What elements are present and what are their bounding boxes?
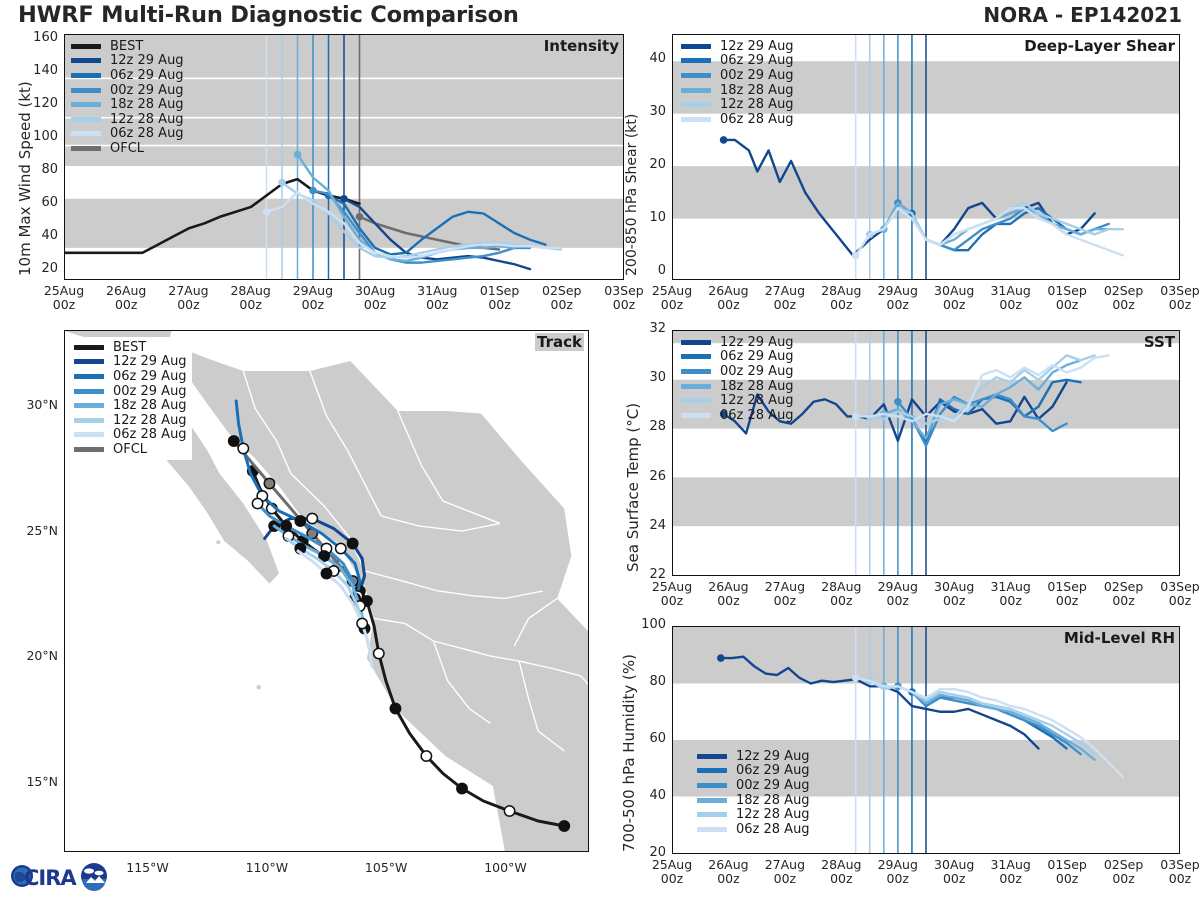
legend-label: 12z 29 Aug bbox=[720, 39, 794, 54]
x-tick-hour: 00z bbox=[774, 871, 796, 886]
series-init-marker bbox=[720, 136, 728, 144]
legend-item-06z-28-aug: 06z 28 Aug bbox=[681, 408, 794, 423]
x-tick-hour: 00z bbox=[1112, 593, 1134, 608]
legend-swatch-icon bbox=[681, 73, 711, 78]
x-tick-date: 01Sep bbox=[1047, 283, 1086, 298]
legend-item-06z-29-aug: 06z 29 Aug bbox=[681, 54, 794, 69]
legend-label: 06z 29 Aug bbox=[720, 349, 794, 364]
x-tick-date: 02Sep bbox=[1104, 283, 1143, 298]
island bbox=[257, 685, 261, 689]
sst-legend: 12z 29 Aug06z 29 Aug00z 29 Aug18z 28 Aug… bbox=[681, 335, 794, 423]
legend-label: 12z 29 Aug bbox=[113, 354, 187, 369]
x-tick-date: 30Aug bbox=[934, 579, 974, 594]
cira-logo: CIRA bbox=[6, 856, 110, 896]
x-tick-date: 26Aug bbox=[708, 857, 748, 872]
legend-item-12z-29-aug: 12z 29 Aug bbox=[74, 355, 187, 370]
track-position-marker bbox=[347, 538, 357, 548]
intensity-legend: BEST12z 29 Aug06z 29 Aug00z 29 Aug18z 28… bbox=[71, 39, 184, 156]
legend-label: 12z 28 Aug bbox=[736, 807, 810, 822]
x-tick-date: 28Aug bbox=[821, 283, 861, 298]
legend-swatch-icon bbox=[71, 117, 101, 122]
x-tick-hour: 00z bbox=[177, 297, 199, 312]
legend-item-12z-29-aug: 12z 29 Aug bbox=[697, 749, 810, 764]
legend-swatch-icon bbox=[681, 117, 711, 122]
map-lat-tick: 15°N bbox=[8, 774, 58, 789]
series-init-marker bbox=[852, 413, 860, 421]
map-lat-tick: 30°N bbox=[8, 397, 58, 412]
track-legend: BEST12z 29 Aug06z 29 Aug00z 29 Aug18z 28… bbox=[71, 337, 192, 460]
y-tick-label: 30 bbox=[620, 370, 666, 385]
x-tick-date: 27Aug bbox=[765, 283, 805, 298]
y-tick-label: 80 bbox=[620, 674, 666, 689]
legend-swatch-icon bbox=[681, 384, 711, 389]
legend-swatch-icon bbox=[74, 432, 104, 437]
x-tick-date: 29Aug bbox=[878, 857, 918, 872]
legend-item-00z-29-aug: 00z 29 Aug bbox=[71, 83, 184, 98]
legend-swatch-icon bbox=[681, 340, 711, 345]
x-tick-date: 30Aug bbox=[934, 857, 974, 872]
legend-label: 18z 28 Aug bbox=[720, 83, 794, 98]
storm-id-title: NORA - EP142021 bbox=[983, 3, 1182, 27]
x-tick-hour: 00z bbox=[774, 297, 796, 312]
x-tick-date: 31Aug bbox=[990, 579, 1030, 594]
x-tick-hour: 00z bbox=[115, 297, 137, 312]
track-position-marker bbox=[307, 513, 317, 523]
track-position-marker bbox=[357, 618, 367, 628]
legend-swatch-icon bbox=[74, 447, 104, 452]
x-tick-date: 03Sep bbox=[1160, 283, 1199, 298]
y-tick-label: 10 bbox=[620, 210, 666, 225]
legend-label: 06z 29 Aug bbox=[113, 369, 187, 384]
legend-swatch-icon bbox=[71, 146, 101, 151]
series-init-marker bbox=[894, 398, 902, 406]
legend-label: 12z 28 Aug bbox=[110, 112, 184, 127]
x-tick-hour: 00z bbox=[943, 871, 965, 886]
legend-swatch-icon bbox=[74, 374, 104, 379]
track-position-marker bbox=[252, 498, 262, 508]
map-lon-tick: 105°W bbox=[360, 860, 412, 875]
y-tick-label: 0 bbox=[620, 263, 666, 278]
legend-label: 06z 29 Aug bbox=[110, 68, 184, 83]
y-tick-label: 40 bbox=[620, 51, 666, 66]
legend-item-00z-29-aug: 00z 29 Aug bbox=[681, 364, 794, 379]
x-tick-hour: 00z bbox=[1169, 871, 1191, 886]
map-lon-tick: 100°W bbox=[479, 860, 531, 875]
y-tick-label: 32 bbox=[620, 321, 666, 336]
y-tick-label: 28 bbox=[620, 419, 666, 434]
x-tick-hour: 00z bbox=[1169, 297, 1191, 312]
x-tick-date: 31Aug bbox=[990, 857, 1030, 872]
x-tick-label: 03Sep00z bbox=[1143, 284, 1200, 312]
map-lon-tick: 115°W bbox=[122, 860, 174, 875]
legend-swatch-icon bbox=[681, 58, 711, 63]
x-tick-date: 30Aug bbox=[355, 283, 395, 298]
legend-label: 12z 29 Aug bbox=[110, 53, 184, 68]
x-tick-date: 27Aug bbox=[765, 857, 805, 872]
x-tick-date: 29Aug bbox=[878, 283, 918, 298]
x-tick-hour: 00z bbox=[717, 593, 739, 608]
legend-item-18z-28-aug: 18z 28 Aug bbox=[74, 398, 187, 413]
legend-swatch-icon bbox=[71, 73, 101, 78]
intensity-panel-title: Intensity bbox=[544, 37, 619, 55]
x-tick-hour: 00z bbox=[1056, 871, 1078, 886]
x-tick-hour: 00z bbox=[943, 297, 965, 312]
series-init-marker bbox=[852, 674, 860, 682]
x-tick-date: 28Aug bbox=[821, 579, 861, 594]
series-init-marker bbox=[356, 213, 364, 221]
legend-item-18z-28-aug: 18z 28 Aug bbox=[681, 379, 794, 394]
legend-item-12z-28-aug: 12z 28 Aug bbox=[697, 807, 810, 822]
series-init-marker bbox=[263, 208, 271, 216]
legend-swatch-icon bbox=[71, 102, 101, 107]
legend-item-06z-29-aug: 06z 29 Aug bbox=[697, 764, 810, 779]
legend-swatch-icon bbox=[74, 345, 104, 350]
x-tick-date: 28Aug bbox=[230, 283, 270, 298]
y-tick-label: 100 bbox=[12, 129, 58, 144]
map-lat-tick: 20°N bbox=[8, 648, 58, 663]
y-tick-label: 20 bbox=[12, 261, 58, 276]
legend-label: OFCL bbox=[113, 442, 147, 457]
legend-item-12z-28-aug: 12z 28 Aug bbox=[71, 112, 184, 127]
legend-swatch-icon bbox=[74, 403, 104, 408]
x-tick-hour: 00z bbox=[239, 297, 261, 312]
x-tick-date: 29Aug bbox=[878, 579, 918, 594]
track-position-marker bbox=[281, 521, 291, 531]
page-title: HWRF Multi-Run Diagnostic Comparison bbox=[18, 2, 519, 28]
x-tick-hour: 00z bbox=[830, 297, 852, 312]
x-tick-hour: 00z bbox=[999, 593, 1021, 608]
legend-label: 06z 29 Aug bbox=[736, 763, 810, 778]
x-tick-date: 02Sep bbox=[1104, 579, 1143, 594]
legend-label: 18z 28 Aug bbox=[113, 398, 187, 413]
series-init-marker bbox=[294, 151, 302, 159]
legend-item-ofcl: OFCL bbox=[71, 141, 184, 156]
legend-swatch-icon bbox=[71, 88, 101, 93]
x-tick-date: 26Aug bbox=[106, 283, 146, 298]
shear-panel: Deep-Layer Shear 12z 29 Aug06z 29 Aug00z… bbox=[672, 34, 1180, 280]
legend-label: 00z 29 Aug bbox=[110, 83, 184, 98]
x-tick-date: 02Sep bbox=[1104, 857, 1143, 872]
x-tick-hour: 00z bbox=[1112, 871, 1134, 886]
x-tick-hour: 00z bbox=[613, 297, 635, 312]
legend-swatch-icon bbox=[681, 44, 711, 49]
x-tick-date: 27Aug bbox=[168, 283, 208, 298]
series-init-marker bbox=[852, 252, 860, 260]
x-tick-hour: 00z bbox=[1056, 593, 1078, 608]
legend-swatch-icon bbox=[681, 354, 711, 359]
y-tick-label: 40 bbox=[620, 788, 666, 803]
legend-label: 06z 28 Aug bbox=[720, 408, 794, 423]
legend-label: 00z 29 Aug bbox=[736, 778, 810, 793]
island bbox=[216, 540, 220, 544]
x-tick-hour: 00z bbox=[302, 297, 324, 312]
x-tick-hour: 00z bbox=[364, 297, 386, 312]
y-tick-label: 100 bbox=[620, 617, 666, 632]
rh-legend: 12z 29 Aug06z 29 Aug00z 29 Aug18z 28 Aug… bbox=[697, 749, 810, 837]
legend-label: 18z 28 Aug bbox=[110, 97, 184, 112]
x-tick-hour: 00z bbox=[661, 297, 683, 312]
legend-item-00z-29-aug: 00z 29 Aug bbox=[74, 384, 187, 399]
y-tick-label: 60 bbox=[12, 195, 58, 210]
legend-label: 18z 28 Aug bbox=[736, 793, 810, 808]
legend-item-00z-29-aug: 00z 29 Aug bbox=[697, 778, 810, 793]
legend-swatch-icon bbox=[681, 369, 711, 374]
legend-swatch-icon bbox=[697, 798, 727, 803]
legend-swatch-icon bbox=[697, 783, 727, 788]
x-tick-date: 03Sep bbox=[1160, 857, 1199, 872]
rh-panel-title: Mid-Level RH bbox=[1064, 629, 1175, 647]
x-tick-hour: 00z bbox=[830, 593, 852, 608]
track-position-marker bbox=[457, 783, 467, 793]
x-tick-date: 29Aug bbox=[293, 283, 333, 298]
legend-item-06z-28-aug: 06z 28 Aug bbox=[71, 127, 184, 142]
legend-label: 12z 28 Aug bbox=[720, 393, 794, 408]
x-tick-hour: 00z bbox=[1056, 297, 1078, 312]
track-position-marker bbox=[295, 516, 305, 526]
legend-item-ofcl: OFCL bbox=[74, 442, 187, 457]
intensity-panel: Intensity BEST12z 29 Aug06z 29 Aug00z 29… bbox=[64, 34, 624, 280]
x-tick-date: 26Aug bbox=[708, 579, 748, 594]
legend-item-12z-29-aug: 12z 29 Aug bbox=[681, 335, 794, 350]
legend-swatch-icon bbox=[74, 418, 104, 423]
x-tick-hour: 00z bbox=[661, 871, 683, 886]
legend-swatch-icon bbox=[681, 413, 711, 418]
legend-label: BEST bbox=[113, 340, 146, 355]
x-tick-hour: 00z bbox=[661, 593, 683, 608]
legend-item-best: BEST bbox=[71, 39, 184, 54]
legend-item-06z-29-aug: 06z 29 Aug bbox=[681, 350, 794, 365]
legend-swatch-icon bbox=[681, 88, 711, 93]
legend-item-18z-28-aug: 18z 28 Aug bbox=[697, 793, 810, 808]
legend-item-12z-28-aug: 12z 28 Aug bbox=[681, 97, 794, 112]
x-tick-date: 02Sep bbox=[542, 283, 581, 298]
legend-label: 00z 29 Aug bbox=[113, 384, 187, 399]
legend-swatch-icon bbox=[697, 754, 727, 759]
track-position-marker bbox=[336, 543, 346, 553]
legend-label: 06z 28 Aug bbox=[720, 112, 794, 127]
track-position-marker bbox=[321, 568, 331, 578]
x-tick-hour: 00z bbox=[717, 871, 739, 886]
track-position-marker bbox=[374, 648, 384, 658]
legend-item-18z-28-aug: 18z 28 Aug bbox=[681, 83, 794, 98]
legend-label: 06z 28 Aug bbox=[113, 427, 187, 442]
shear-legend: 12z 29 Aug06z 29 Aug00z 29 Aug18z 28 Aug… bbox=[681, 39, 794, 127]
legend-label: BEST bbox=[110, 39, 143, 54]
legend-label: 00z 29 Aug bbox=[720, 68, 794, 83]
x-tick-hour: 00z bbox=[1169, 593, 1191, 608]
x-tick-label: 03Sep00z bbox=[1143, 580, 1200, 608]
x-tick-hour: 00z bbox=[887, 871, 909, 886]
track-position-marker bbox=[229, 436, 239, 446]
x-tick-date: 01Sep bbox=[480, 283, 519, 298]
shear-panel-title: Deep-Layer Shear bbox=[1024, 37, 1175, 55]
x-tick-date: 03Sep bbox=[1160, 579, 1199, 594]
track-position-marker bbox=[264, 478, 274, 488]
x-tick-hour: 00z bbox=[1112, 297, 1134, 312]
y-tick-label: 140 bbox=[12, 63, 58, 78]
x-tick-date: 31Aug bbox=[990, 283, 1030, 298]
y-tick-label: 40 bbox=[12, 228, 58, 243]
legend-swatch-icon bbox=[71, 58, 101, 63]
x-tick-date: 26Aug bbox=[708, 283, 748, 298]
legend-label: 06z 28 Aug bbox=[736, 822, 810, 837]
legend-swatch-icon bbox=[697, 827, 727, 832]
series-init-marker bbox=[278, 179, 286, 187]
track-position-marker bbox=[390, 703, 400, 713]
legend-label: 12z 29 Aug bbox=[736, 749, 810, 764]
legend-label: 06z 28 Aug bbox=[110, 126, 184, 141]
legend-label: 18z 28 Aug bbox=[720, 379, 794, 394]
x-tick-label: 03Sep00z bbox=[1143, 858, 1200, 886]
x-tick-hour: 00z bbox=[717, 297, 739, 312]
legend-swatch-icon bbox=[681, 102, 711, 107]
x-tick-hour: 00z bbox=[887, 593, 909, 608]
legend-item-06z-29-aug: 06z 29 Aug bbox=[74, 369, 187, 384]
legend-label: 12z 29 Aug bbox=[720, 335, 794, 350]
legend-item-06z-28-aug: 06z 28 Aug bbox=[681, 112, 794, 127]
legend-item-best: BEST bbox=[74, 340, 187, 355]
x-tick-hour: 00z bbox=[488, 297, 510, 312]
track-position-marker bbox=[238, 443, 248, 453]
x-tick-hour: 00z bbox=[53, 297, 75, 312]
legend-label: 12z 28 Aug bbox=[720, 97, 794, 112]
legend-item-18z-28-aug: 18z 28 Aug bbox=[71, 97, 184, 112]
x-tick-hour: 00z bbox=[774, 593, 796, 608]
x-tick-date: 28Aug bbox=[821, 857, 861, 872]
x-tick-hour: 00z bbox=[943, 593, 965, 608]
legend-swatch-icon bbox=[74, 389, 104, 394]
map-lat-tick: 25°N bbox=[8, 523, 58, 538]
x-tick-hour: 00z bbox=[426, 297, 448, 312]
rh-panel: Mid-Level RH 12z 29 Aug06z 29 Aug00z 29 … bbox=[672, 626, 1180, 854]
x-tick-date: 01Sep bbox=[1047, 579, 1086, 594]
x-tick-hour: 00z bbox=[887, 297, 909, 312]
y-tick-label: 80 bbox=[12, 162, 58, 177]
legend-swatch-icon bbox=[681, 398, 711, 403]
map-lon-tick: 110°W bbox=[241, 860, 293, 875]
x-tick-date: 25Aug bbox=[44, 283, 84, 298]
legend-item-12z-29-aug: 12z 29 Aug bbox=[681, 39, 794, 54]
legend-item-06z-28-aug: 06z 28 Aug bbox=[697, 822, 810, 837]
track-map-panel[interactable]: Track BEST12z 29 Aug06z 29 Aug00z 29 Aug… bbox=[64, 330, 589, 852]
legend-swatch-icon bbox=[697, 768, 727, 773]
x-tick-date: 25Aug bbox=[652, 579, 692, 594]
track-position-marker bbox=[559, 821, 569, 831]
x-tick-date: 01Sep bbox=[1047, 857, 1086, 872]
x-tick-date: 25Aug bbox=[652, 857, 692, 872]
legend-label: OFCL bbox=[110, 141, 144, 156]
x-tick-hour: 00z bbox=[830, 871, 852, 886]
y-tick-label: 26 bbox=[620, 469, 666, 484]
track-position-marker bbox=[504, 806, 514, 816]
y-tick-label: 30 bbox=[620, 104, 666, 119]
legend-item-00z-29-aug: 00z 29 Aug bbox=[681, 68, 794, 83]
sst-panel-title: SST bbox=[1144, 333, 1175, 351]
shear-y-axis-label: 200-850 hPa Shear (kt) bbox=[624, 114, 640, 276]
y-tick-label: 160 bbox=[12, 30, 58, 45]
track-panel-title: Track bbox=[535, 333, 584, 351]
legend-label: 00z 29 Aug bbox=[720, 364, 794, 379]
y-tick-label: 24 bbox=[620, 518, 666, 533]
legend-label: 06z 29 Aug bbox=[720, 53, 794, 68]
svg-text:CIRA: CIRA bbox=[24, 866, 77, 890]
series-init-marker bbox=[309, 187, 317, 195]
x-tick-hour: 00z bbox=[999, 297, 1021, 312]
track-position-marker bbox=[421, 751, 431, 761]
y-tick-label: 20 bbox=[620, 157, 666, 172]
x-tick-date: 25Aug bbox=[652, 283, 692, 298]
x-tick-date: 31Aug bbox=[417, 283, 457, 298]
legend-item-06z-28-aug: 06z 28 Aug bbox=[74, 428, 187, 443]
legend-swatch-icon bbox=[697, 812, 727, 817]
legend-item-12z-29-aug: 12z 29 Aug bbox=[71, 54, 184, 69]
legend-item-06z-29-aug: 06z 29 Aug bbox=[71, 68, 184, 83]
legend-swatch-icon bbox=[71, 44, 101, 49]
x-tick-hour: 00z bbox=[999, 871, 1021, 886]
y-tick-label: 60 bbox=[620, 731, 666, 746]
legend-swatch-icon bbox=[74, 359, 104, 364]
legend-item-12z-28-aug: 12z 28 Aug bbox=[681, 393, 794, 408]
sst-panel: SST 12z 29 Aug06z 29 Aug00z 29 Aug18z 28… bbox=[672, 330, 1180, 576]
legend-label: 12z 28 Aug bbox=[113, 413, 187, 428]
legend-swatch-icon bbox=[71, 131, 101, 136]
x-tick-hour: 00z bbox=[551, 297, 573, 312]
series-init-marker bbox=[717, 654, 725, 662]
x-tick-date: 30Aug bbox=[934, 283, 974, 298]
y-tick-label: 120 bbox=[12, 96, 58, 111]
legend-item-12z-28-aug: 12z 28 Aug bbox=[74, 413, 187, 428]
x-tick-date: 27Aug bbox=[765, 579, 805, 594]
